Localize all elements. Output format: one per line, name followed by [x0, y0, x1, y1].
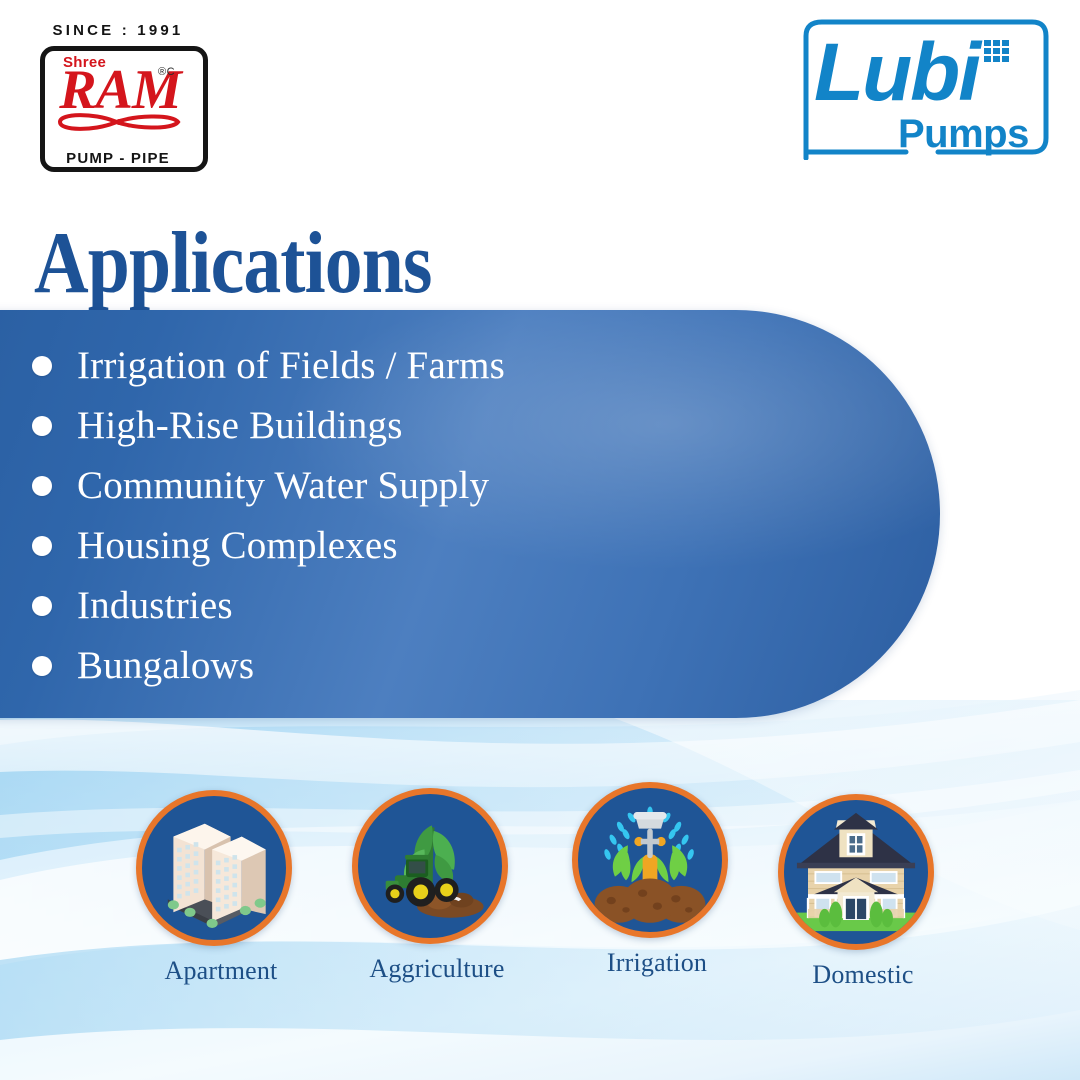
list-item: High-Rise Buildings	[32, 396, 792, 456]
list-item-label: Community Water Supply	[77, 464, 489, 508]
list-item-label: Irrigation of Fields / Farms	[77, 344, 505, 388]
list-item-label: Housing Complexes	[77, 524, 398, 568]
ram-tagline-wrap: PUMP - PIPE	[18, 150, 218, 168]
applications-list: Irrigation of Fields / Farms High-Rise B…	[32, 336, 792, 696]
bullet-dot-icon	[32, 356, 52, 376]
segment-domestic: Domestic	[778, 794, 948, 990]
poster-canvas: SINCE : 1991 Shree RAM ®C PUMP - PIPE Lu…	[0, 0, 1080, 1080]
list-item: Community Water Supply	[32, 456, 792, 516]
segment-icons-row: Apartment	[0, 780, 1080, 1040]
page-title: Applications	[34, 218, 432, 310]
ram-flourish-icon	[54, 110, 184, 134]
list-item: Housing Complexes	[32, 516, 792, 576]
registered-trademark-icon: ®C	[158, 66, 175, 78]
lubi-pumps-logo: Lubi Pumps	[788, 18, 1060, 170]
apartment-buildings-icon	[142, 796, 286, 940]
segment-circle	[352, 788, 508, 944]
bullet-dot-icon	[32, 416, 52, 436]
list-item-label: High-Rise Buildings	[77, 404, 403, 448]
bullet-dot-icon	[32, 536, 52, 556]
segment-label: Aggriculture	[352, 954, 522, 984]
ram-tagline: PUMP - PIPE	[61, 150, 175, 167]
lubi-wordmark: Lubi	[814, 32, 979, 114]
bullet-dot-icon	[32, 596, 52, 616]
segment-circle	[136, 790, 292, 946]
lubi-subtitle: Pumps	[898, 114, 1029, 154]
segment-circle	[572, 782, 728, 938]
shree-ram-logo: SINCE : 1991 Shree RAM ®C PUMP - PIPE	[18, 22, 218, 172]
list-item: Bungalows	[32, 636, 792, 696]
lubi-grid-dots-icon	[984, 40, 1014, 66]
list-item: Irrigation of Fields / Farms	[32, 336, 792, 396]
list-item-label: Industries	[77, 584, 233, 628]
segment-label: Apartment	[136, 956, 306, 986]
since-text: SINCE : 1991	[18, 22, 218, 39]
list-item: Industries	[32, 576, 792, 636]
segment-irrigation: Irrigation	[572, 782, 742, 978]
tractor-plant-icon	[358, 794, 502, 938]
segment-apartment: Apartment	[136, 790, 306, 986]
segment-agriculture: Aggriculture	[352, 788, 522, 984]
list-item-label: Bungalows	[77, 644, 254, 688]
bullet-dot-icon	[32, 476, 52, 496]
house-icon	[784, 800, 928, 944]
sprinkler-icon	[578, 788, 722, 932]
segment-circle	[778, 794, 934, 950]
segment-label: Irrigation	[572, 948, 742, 978]
bullet-dot-icon	[32, 656, 52, 676]
segment-label: Domestic	[778, 960, 948, 990]
